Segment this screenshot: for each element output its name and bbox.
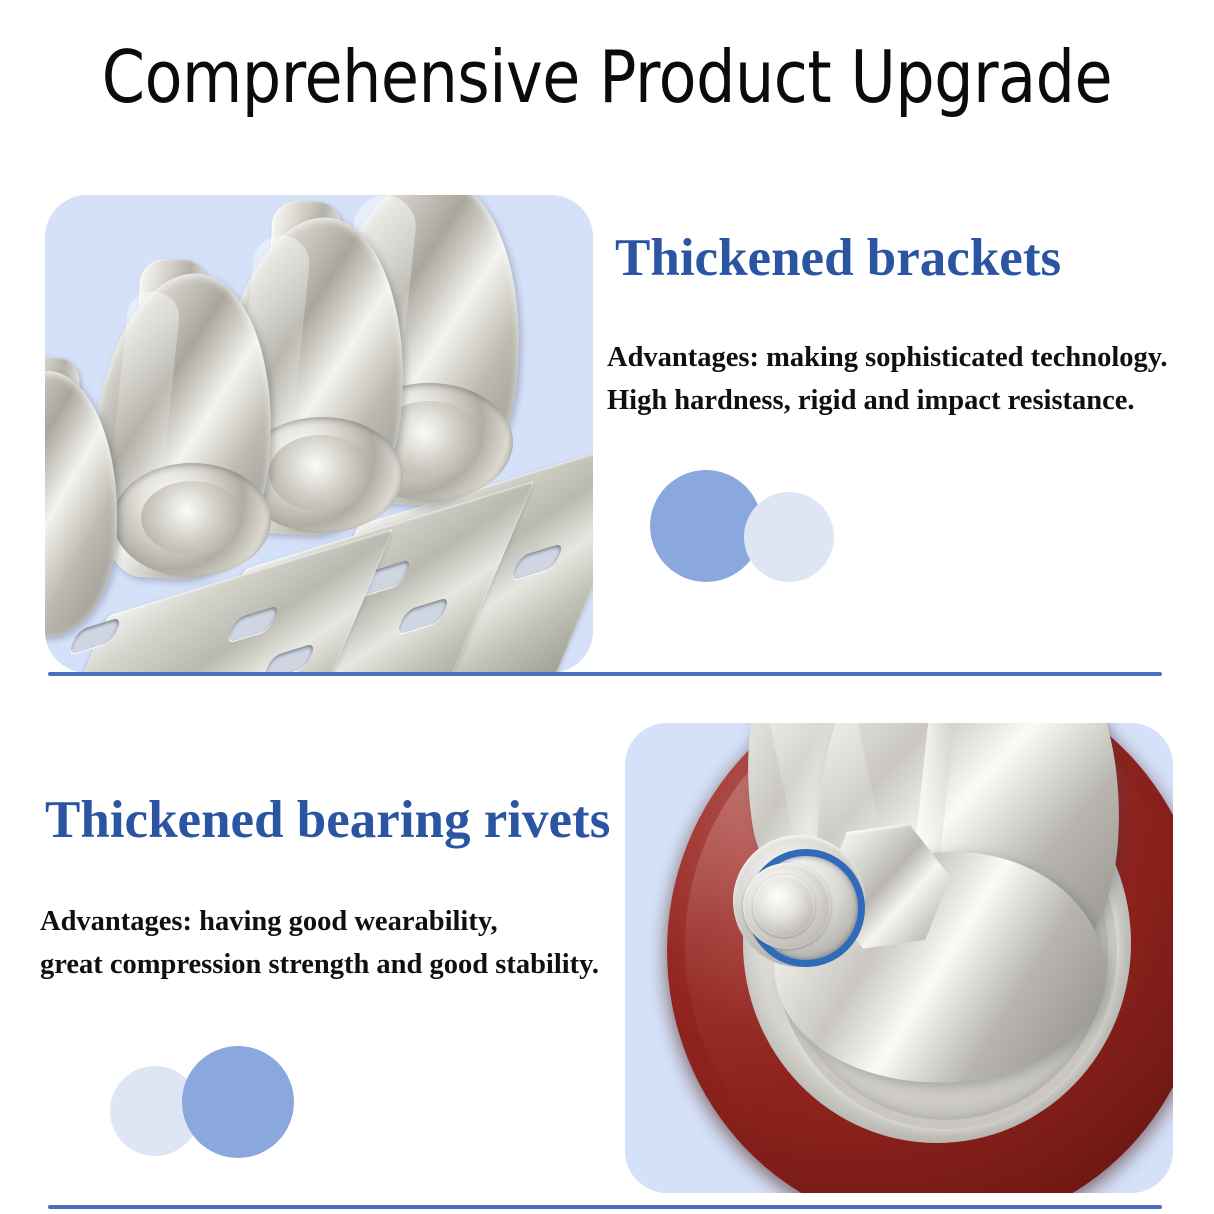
section-body-bearing-rivets: Advantages: having good wearability, gre… [40,900,599,986]
wheel-illustration [625,723,1173,1193]
bottom-divider [48,1205,1162,1209]
brackets-illustration [45,195,593,673]
page-title: Comprehensive Product Upgrade [85,34,1129,120]
decorative-dot-dark [182,1046,294,1158]
section-divider [48,672,1162,676]
decorative-dots-bottom [110,1046,350,1166]
section-body-bearing-rivets-line-2: great compression strength and good stab… [40,943,599,986]
section-heading-brackets: Thickened brackets [615,228,1061,288]
section-heading-bearing-rivets: Thickened bearing rivets [45,790,610,850]
section-body-brackets-line-2: High hardness, rigid and impact resistan… [607,379,1168,422]
brackets-photo [45,195,593,673]
section-body-brackets-line-1: Advantages: making sophisticated technol… [607,336,1168,379]
section-body-brackets: Advantages: making sophisticated technol… [607,336,1168,422]
wheel-photo [625,723,1173,1193]
decorative-dots-top [650,470,890,590]
section-body-bearing-rivets-line-1: Advantages: having good wearability, [40,900,599,943]
decorative-dot-light [744,492,834,582]
